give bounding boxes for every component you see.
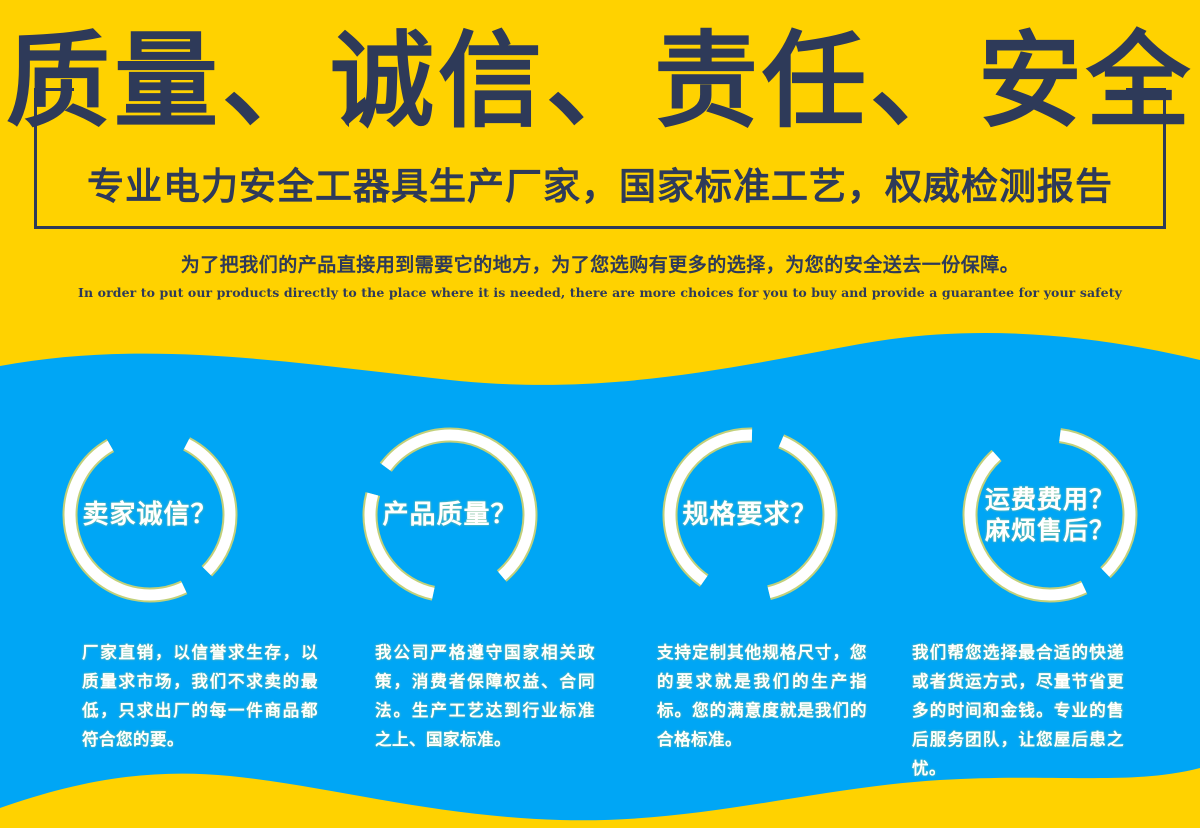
ring-graphic-1: 卖家诚信？ xyxy=(50,415,250,615)
ring-graphic-2: 产品质量？ xyxy=(350,415,550,615)
page-subtitle: 专业电力安全工器具生产厂家，国家标准工艺，权威检测报告 xyxy=(0,160,1200,212)
feature-list: 卖家诚信？ 厂家直销，以信誉求生存，以质量求市场，我们不求卖的最低，只求出厂的每… xyxy=(0,415,1200,795)
header-block: 质量、诚信、责任、安全 专业电力安全工器具生产厂家，国家标准工艺，权威检测报告 … xyxy=(0,0,1200,330)
ring-graphic-3: 规格要求？ xyxy=(650,415,850,615)
page-title: 质量、诚信、责任、安全 xyxy=(0,22,1200,140)
feature-description-2: 我公司严格遵守国家相关政策，消费者保障权益、合同法。生产工艺达到行业标准之上、国… xyxy=(375,638,595,754)
ring-label-1-line1: 卖家诚信？ xyxy=(82,498,217,532)
ring-graphic-4: 运费费用？ 麻烦售后？ xyxy=(950,415,1150,615)
ring-label-2-line1: 产品质量？ xyxy=(382,498,517,532)
ring-label-3: 规格要求？ xyxy=(650,415,850,615)
feature-column-1: 卖家诚信？ 厂家直销，以信誉求生存，以质量求市场，我们不求卖的最低，只求出厂的每… xyxy=(0,415,300,795)
feature-description-4: 我们帮您选择最合适的快递或者货运方式，尽量节省更多的时间和金钱。专业的售后服务团… xyxy=(912,638,1124,783)
ring-label-2: 产品质量？ xyxy=(350,415,550,615)
ring-label-4: 运费费用？ 麻烦售后？ xyxy=(950,415,1150,615)
tagline-english: In order to put our products directly to… xyxy=(0,284,1200,302)
feature-column-2: 产品质量？ 我公司严格遵守国家相关政策，消费者保障权益、合同法。生产工艺达到行业… xyxy=(300,415,600,795)
ring-label-1: 卖家诚信？ xyxy=(50,415,250,615)
feature-description-1: 厂家直销，以信誉求生存，以质量求市场，我们不求卖的最低，只求出厂的每一件商品都符… xyxy=(82,638,318,754)
feature-description-3: 支持定制其他规格尺寸，您的要求就是我们的生产指标。您的满意度就是我们的合格标准。 xyxy=(657,638,867,754)
ring-label-4-line1: 运费费用？ xyxy=(985,484,1115,515)
tagline-chinese: 为了把我们的产品直接用到需要它的地方，为了您选购有更多的选择，为您的安全送去一份… xyxy=(0,252,1200,278)
ring-label-3-line1: 规格要求？ xyxy=(682,498,817,532)
feature-column-4: 运费费用？ 麻烦售后？ 我们帮您选择最合适的快递或者货运方式，尽量节省更多的时间… xyxy=(900,415,1200,795)
promotional-banner: 质量、诚信、责任、安全 专业电力安全工器具生产厂家，国家标准工艺，权威检测报告 … xyxy=(0,0,1200,828)
feature-column-3: 规格要求？ 支持定制其他规格尺寸，您的要求就是我们的生产指标。您的满意度就是我们… xyxy=(600,415,900,795)
ring-label-4-line2: 麻烦售后？ xyxy=(985,515,1115,546)
